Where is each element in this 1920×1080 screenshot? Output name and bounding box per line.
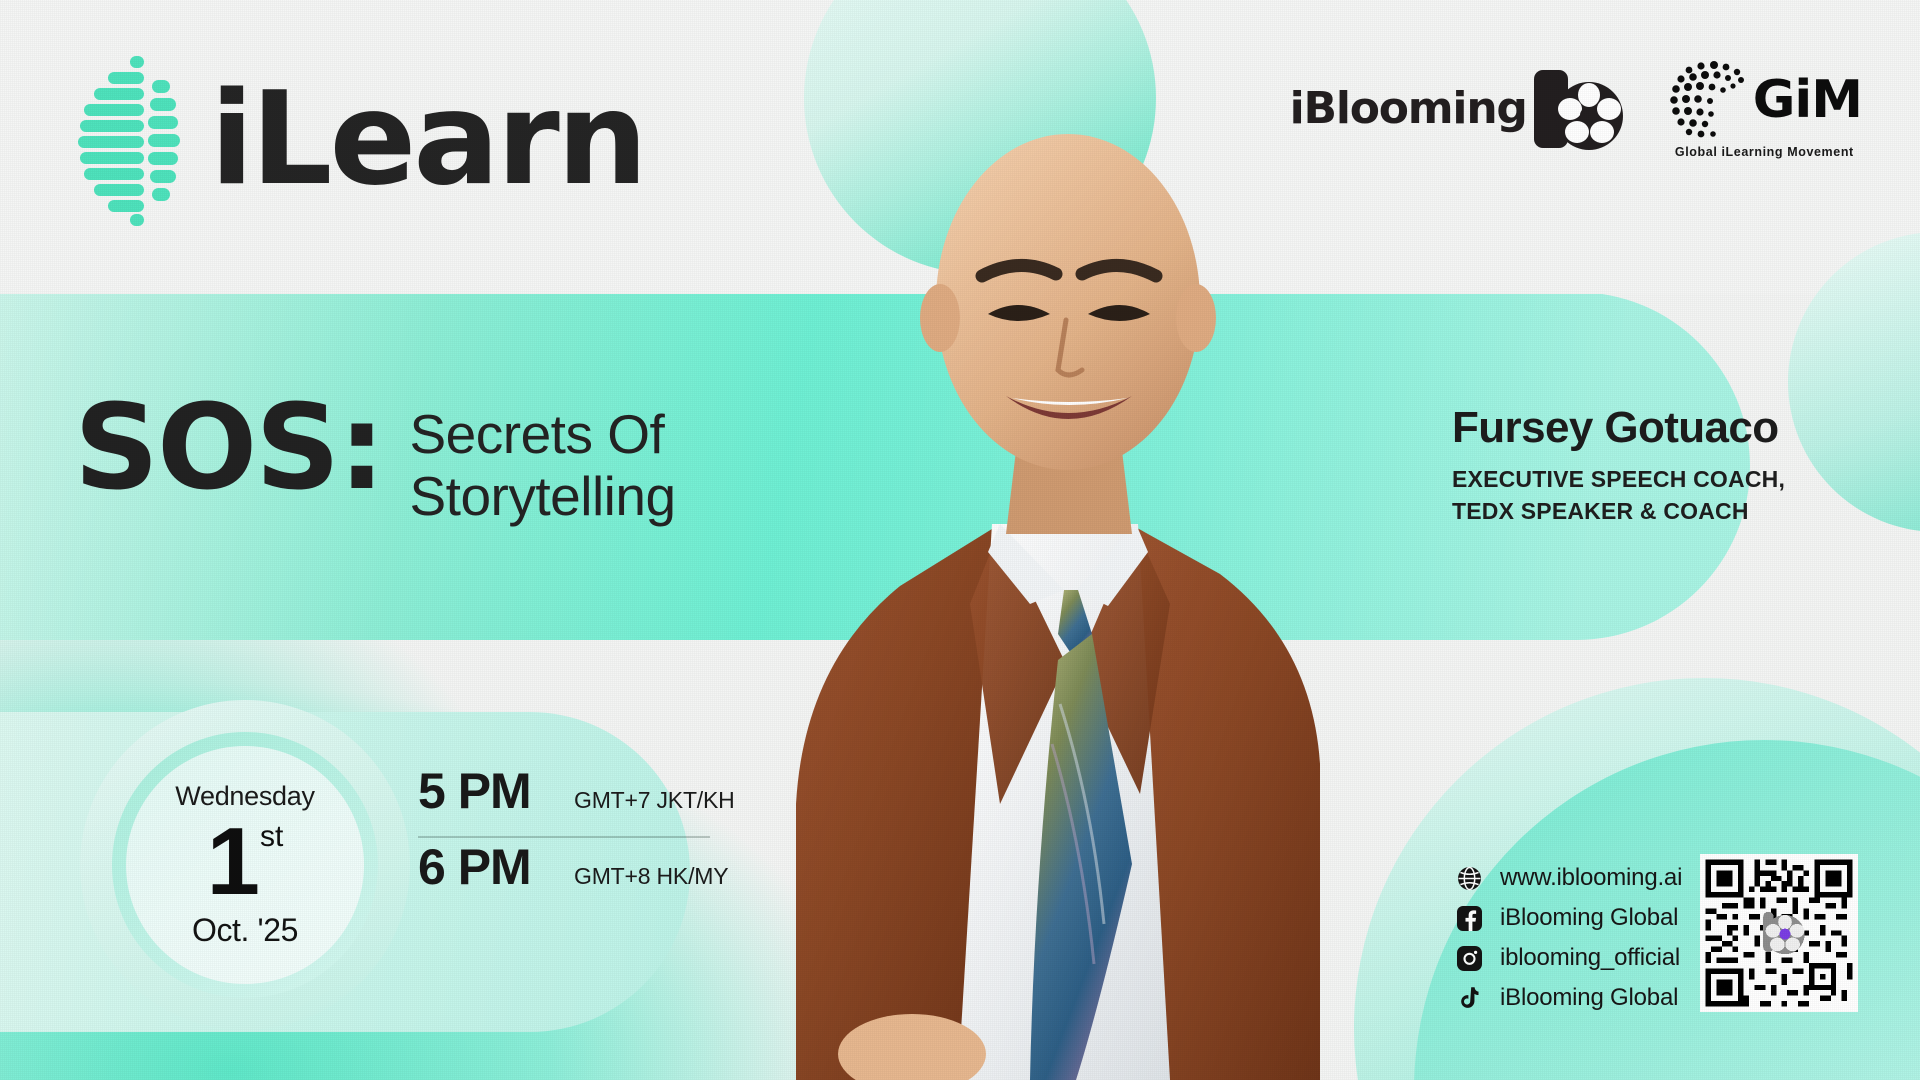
title-expansion-line1: Secrets Of (409, 403, 664, 465)
gim-wordmark: GiM (1753, 70, 1862, 130)
social-label-instagram: iblooming_official (1500, 944, 1680, 972)
qr-code-matrix (1700, 854, 1858, 1012)
speaker-role: EXECUTIVE SPEECH COACH, TEDX SPEAKER & C… (1452, 464, 1785, 527)
event-date: Wednesday 1 st Oct. '25 (126, 746, 364, 984)
instagram-icon (1457, 946, 1482, 971)
gim-dotted-globe-logo (1667, 58, 1751, 142)
social-label-website: www.iblooming.ai (1500, 864, 1682, 892)
gim-tagline: Global iLearning Movement (1675, 145, 1854, 159)
speaker-role-line2: TEDX SPEAKER & COACH (1452, 498, 1749, 524)
qr-code[interactable] (1700, 854, 1858, 1012)
event-times: 5 PM GMT+7 JKT/KH 6 PM GMT+8 HK/MY (418, 762, 718, 912)
speaker-portrait (700, 104, 1420, 1080)
globe-icon (1457, 866, 1482, 891)
poster-canvas: iLearn iBlooming (0, 0, 1920, 1080)
social-row-website[interactable]: www.iblooming.ai (1457, 858, 1682, 898)
tiktok-icon (1457, 986, 1482, 1011)
title-acronym: SOS: (74, 392, 383, 503)
date-ordinal-suffix: st (260, 822, 283, 852)
time-value-secondary: 6 PM (418, 838, 548, 896)
ilearn-wordmark: iLearn (210, 76, 645, 204)
social-row-instagram[interactable]: iblooming_official (1457, 938, 1682, 978)
date-month-year: Oct. '25 (192, 912, 298, 949)
ilearn-logo-lockup: iLearn (68, 52, 645, 228)
date-day-row: 1 st (207, 814, 284, 910)
event-title: SOS: Secrets Of Storytelling (74, 392, 676, 527)
social-row-tiktok[interactable]: iBlooming Global (1457, 978, 1682, 1018)
ilearn-dot-bars-logo (68, 52, 184, 228)
social-label-facebook: iBlooming Global (1500, 904, 1678, 932)
title-expansion: Secrets Of Storytelling (409, 392, 675, 527)
speaker-role-line1: EXECUTIVE SPEECH COACH, (1452, 466, 1785, 492)
facebook-icon (1457, 906, 1482, 931)
social-row-facebook[interactable]: iBlooming Global (1457, 898, 1682, 938)
time-row-primary: 5 PM GMT+7 JKT/KH (418, 762, 718, 836)
social-links: www.iblooming.ai iBlooming Global ibloom… (1457, 858, 1682, 1018)
date-day-number: 1 (207, 814, 258, 910)
speaker-name: Fursey Gotuaco (1452, 404, 1785, 452)
speaker-info: Fursey Gotuaco EXECUTIVE SPEECH COACH, T… (1452, 404, 1785, 528)
time-value-primary: 5 PM (418, 762, 548, 820)
gim-logo-lockup: GiM Global iLearning Movement (1667, 58, 1862, 159)
title-expansion-line2: Storytelling (409, 465, 675, 527)
iblooming-b-flower-logo (1533, 66, 1625, 152)
time-row-secondary: 6 PM GMT+8 HK/MY (418, 838, 718, 912)
social-label-tiktok: iBlooming Global (1500, 984, 1678, 1012)
